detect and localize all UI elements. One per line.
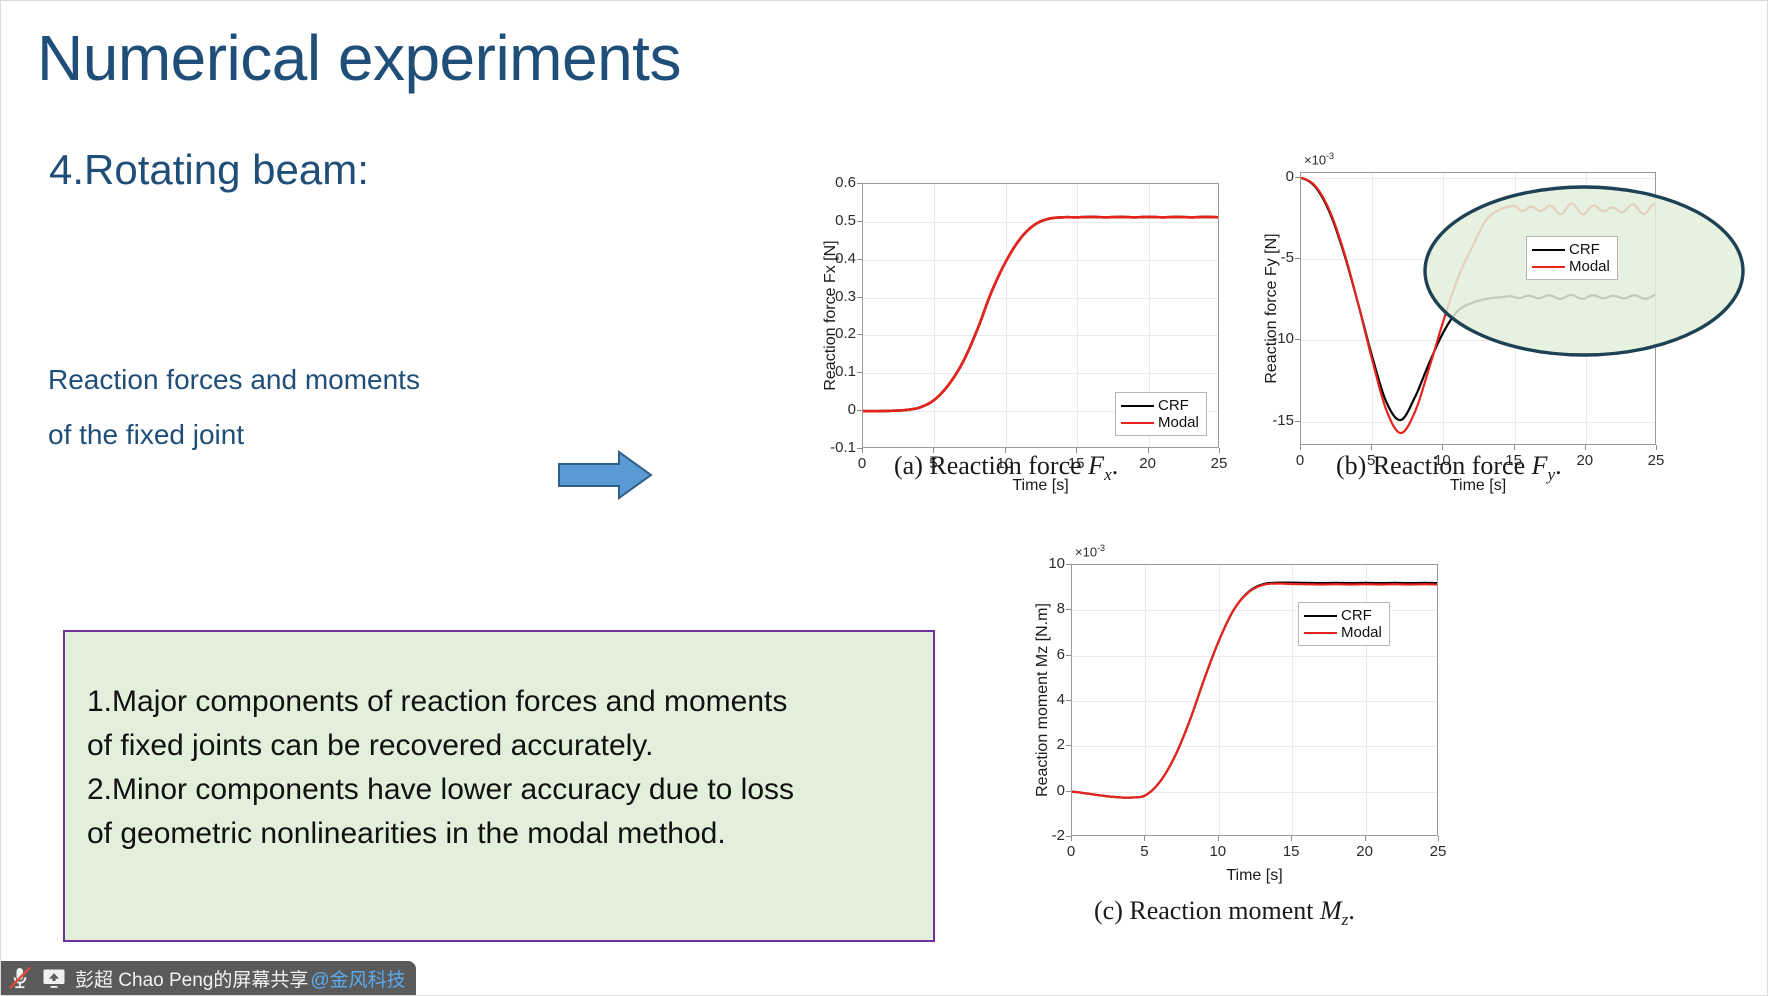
x-tick-label: 20: [1345, 843, 1385, 860]
legend-swatch-modal: [1304, 632, 1337, 634]
left-note-line-2: of the fixed joint: [48, 408, 568, 463]
left-note-line-1: Reaction forces and moments: [48, 353, 568, 408]
y-tickmark: [857, 372, 862, 373]
series-line-modal: [1301, 178, 1656, 433]
x-tick-label: 0: [1051, 843, 1091, 860]
conclusion-text: 1.Major components of reaction forces an…: [87, 680, 923, 856]
x-tick-label: 25: [1636, 452, 1676, 469]
y-tickmark: [1066, 609, 1071, 610]
page-title: Numerical experiments: [37, 25, 681, 92]
y-tickmark: [857, 183, 862, 184]
y-axis-label: Reaction moment Mz [N.m]: [1034, 564, 1052, 836]
y-axis-label: Reaction force Fy [N]: [1263, 172, 1281, 445]
x-tickmark: [1218, 836, 1219, 841]
x-tickmark: [1585, 445, 1586, 450]
legend-swatch-crf: [1304, 615, 1337, 617]
x-tickmark: [1219, 448, 1220, 453]
caption-figure-b: (b) Reaction force Fy.: [1336, 451, 1562, 485]
conclusion-line-1: 1.Major components of reaction forces an…: [87, 680, 923, 724]
y-tickmark: [1295, 421, 1300, 422]
share-handle-label: @金风科技: [310, 965, 405, 992]
x-tickmark: [1438, 836, 1439, 841]
series-line-modal: [863, 217, 1219, 411]
x-tick-label: 10: [1198, 843, 1238, 860]
x-tickmark: [1365, 836, 1366, 841]
legend-label: Modal: [1569, 259, 1610, 274]
x-tick-label: 0: [842, 455, 882, 472]
series-layer-fy: [1301, 173, 1656, 445]
legend-row: CRF: [1304, 607, 1382, 624]
presentation-slide: Numerical experiments 4.Rotating beam: R…: [0, 0, 1768, 996]
x-tick-label: 25: [1418, 843, 1458, 860]
y-tickmark: [1295, 339, 1300, 340]
legend-label: CRF: [1569, 242, 1600, 257]
x-tick-label: 5: [1124, 843, 1164, 860]
legend-row: Modal: [1532, 258, 1610, 275]
x-tickmark: [1442, 445, 1443, 450]
left-note-text: Reaction forces and moments of the fixed…: [48, 353, 568, 462]
legend-swatch-modal: [1532, 266, 1565, 268]
y-tickmark: [857, 410, 862, 411]
legend-label: Modal: [1158, 415, 1199, 430]
legend-label: Modal: [1341, 625, 1382, 640]
x-tick-label: 20: [1565, 452, 1605, 469]
section-heading: 4.Rotating beam:: [49, 147, 369, 193]
conclusion-line-4: of geometric nonlinearities in the modal…: [87, 812, 923, 856]
series-line-crf: [1301, 178, 1656, 420]
y-tickmark: [1066, 700, 1071, 701]
y-tickmark: [1295, 258, 1300, 259]
legend-row: CRF: [1532, 241, 1610, 258]
right-block-arrow-icon: [557, 449, 653, 501]
x-axis-label: Time [s]: [1071, 867, 1438, 885]
x-tick-label: 0: [1280, 452, 1320, 469]
legend-row: Modal: [1304, 624, 1382, 641]
legend-swatch-modal: [1121, 422, 1154, 424]
caption-figure-c: (c) Reaction moment Mz.: [1094, 896, 1355, 930]
y-tickmark: [1066, 791, 1071, 792]
y-tickmark: [1295, 177, 1300, 178]
legend-swatch-crf: [1532, 249, 1565, 251]
microphone-muted-icon[interactable]: [7, 966, 33, 990]
axis-exponent-label: ×10-3: [1304, 151, 1334, 167]
x-tickmark: [1148, 448, 1149, 453]
y-tickmark: [1066, 655, 1071, 656]
x-tickmark: [1371, 445, 1372, 450]
legend-label: CRF: [1341, 608, 1372, 623]
y-tickmark: [1066, 745, 1071, 746]
x-tickmark: [1071, 836, 1072, 841]
legend-row: CRF: [1121, 397, 1199, 414]
legend-fx: CRFModal: [1115, 392, 1207, 436]
figure-reaction-force-fx: -0.100.10.20.30.40.50.60510152025Time [s…: [796, 151, 1096, 491]
x-tickmark: [1656, 445, 1657, 450]
screen-share-status-bar[interactable]: 彭超 Chao Peng的屏幕共享 @金风科技: [1, 961, 416, 995]
series-line-crf: [863, 217, 1219, 411]
screen-share-icon[interactable]: [41, 967, 67, 989]
legend-label: CRF: [1158, 398, 1189, 413]
y-tickmark: [857, 259, 862, 260]
x-tickmark: [1300, 445, 1301, 450]
caption-figure-a: (a) Reaction force Fx.: [894, 451, 1118, 485]
legend-row: Modal: [1121, 414, 1199, 431]
x-tickmark: [1291, 836, 1292, 841]
x-tickmark: [1514, 445, 1515, 450]
x-tick-label: 25: [1199, 455, 1239, 472]
x-tick-label: 15: [1271, 843, 1311, 860]
x-tickmark: [1144, 836, 1145, 841]
conclusion-line-3: 2.Minor components have lower accuracy d…: [87, 768, 923, 812]
legend-mz: CRFModal: [1298, 602, 1390, 646]
legend-fy: CRFModal: [1526, 236, 1618, 280]
plot-area-fy: [1300, 172, 1656, 445]
y-tickmark: [1066, 564, 1071, 565]
x-tickmark: [862, 448, 863, 453]
x-tick-label: 20: [1128, 455, 1168, 472]
axis-exponent-label: ×10-3: [1075, 543, 1105, 559]
y-tickmark: [857, 297, 862, 298]
y-tickmark: [857, 221, 862, 222]
legend-swatch-crf: [1121, 405, 1154, 407]
conclusion-line-2: of fixed joints can be recovered accurat…: [87, 724, 923, 768]
y-tickmark: [857, 334, 862, 335]
conclusion-callout-box: 1.Major components of reaction forces an…: [63, 630, 935, 942]
share-presenter-label: 彭超 Chao Peng的屏幕共享: [75, 965, 308, 992]
y-axis-label: Reaction force Fx [N]: [822, 183, 840, 448]
